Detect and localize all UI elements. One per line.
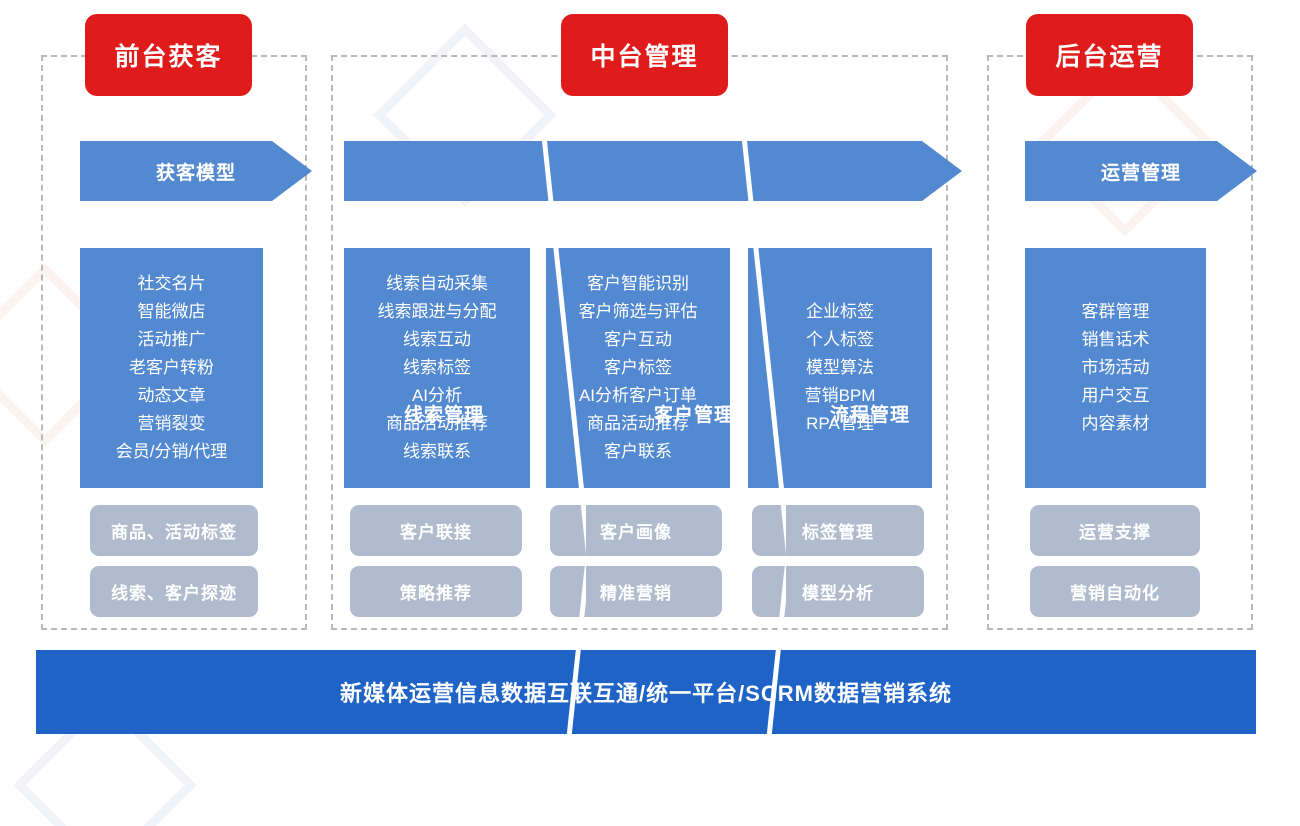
- arrow-label-flow-mgmt: 流程管理: [770, 0, 970, 826]
- panel-line: 销售话术: [1082, 326, 1150, 354]
- panel-line: 活动推广: [138, 326, 206, 354]
- arrow-label: 运营管理: [1101, 158, 1181, 185]
- panel-line: 市场活动: [1082, 354, 1150, 382]
- panel-line: 老客户转粉: [129, 354, 214, 382]
- arrow-backstage-operations-model[interactable]: 运营管理: [1025, 141, 1257, 201]
- pill-frontstage-2[interactable]: 线索、客户探迹: [90, 566, 258, 617]
- header-pill-midstage[interactable]: 中台管理: [561, 14, 728, 96]
- header-pill-frontstage[interactable]: 前台获客: [85, 14, 252, 96]
- pill-backstage-1[interactable]: 运营支撑: [1030, 505, 1200, 556]
- panel-line: 客群管理: [1082, 298, 1150, 326]
- panel-line: 动态文章: [138, 382, 206, 410]
- panel-line: 内容素材: [1082, 410, 1150, 438]
- arrow-frontstage-acquisition-model[interactable]: 获客模型: [80, 141, 312, 201]
- panel-line: 会员/分销/代理: [116, 438, 227, 466]
- pill-frontstage-1[interactable]: 商品、活动标签: [90, 505, 258, 556]
- arrow-label-customer-mgmt: 客户管理: [594, 0, 794, 826]
- arrow-label: 获客模型: [156, 158, 236, 185]
- panel-line: 智能微店: [138, 298, 206, 326]
- diagram-canvas: 前台获客 获客模型 社交名片 智能微店 活动推广 老客户转粉 动态文章 营销裂变…: [0, 0, 1300, 826]
- panel-frontstage-features[interactable]: 社交名片 智能微店 活动推广 老客户转粉 动态文章 营销裂变 会员/分销/代理: [80, 248, 263, 488]
- panel-line: 社交名片: [138, 270, 206, 298]
- pill-backstage-2[interactable]: 营销自动化: [1030, 566, 1200, 617]
- header-pill-backstage[interactable]: 后台运营: [1026, 14, 1193, 96]
- panel-backstage-features[interactable]: 客群管理 销售话术 市场活动 用户交互 内容素材: [1025, 248, 1206, 488]
- panel-line: 营销裂变: [138, 410, 206, 438]
- panel-line: 用户交互: [1082, 382, 1150, 410]
- arrow-label-lead-mgmt: 线索管理: [344, 0, 544, 826]
